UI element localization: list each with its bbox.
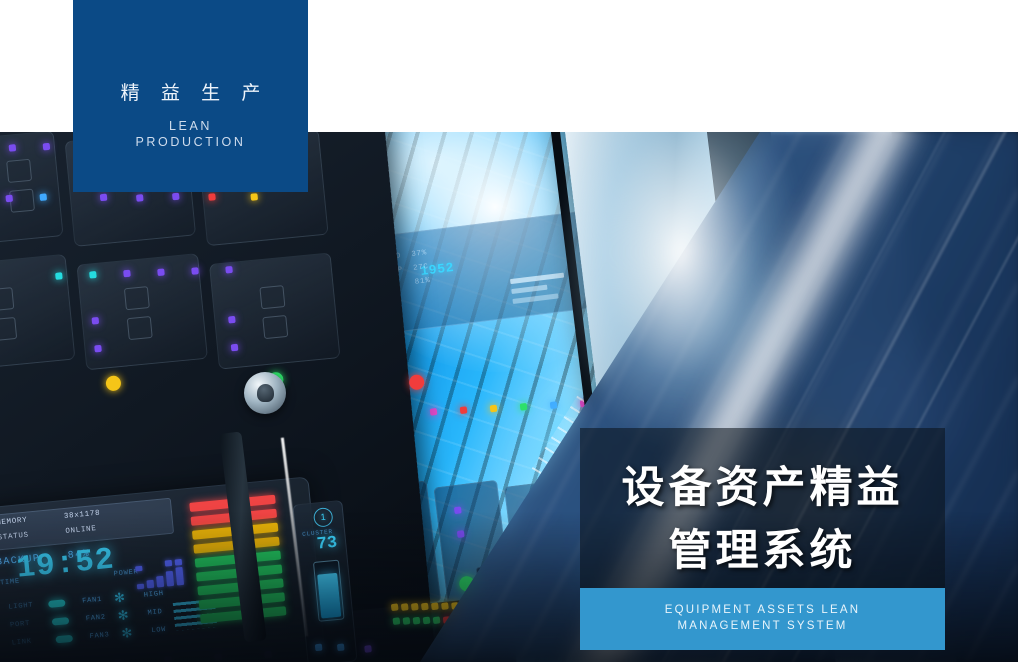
- main-title-english-line2: MANAGEMENT SYSTEM: [580, 618, 945, 634]
- lean-badge-english: LEAN PRODUCTION: [73, 118, 308, 150]
- lean-badge-english-line1: LEAN: [73, 118, 308, 134]
- main-title-band: EQUIPMENT ASSETS LEAN MANAGEMENT SYSTEM: [580, 588, 945, 650]
- lean-badge-chinese: 精 益 生 产: [73, 78, 308, 105]
- poster-root: 1952 LOAD 37% TEMP 27C BUS 81%: [0, 0, 1018, 662]
- main-title-line1: 设备资产精益: [580, 453, 945, 515]
- main-title-english-line1: EQUIPMENT ASSETS LEAN: [580, 602, 945, 618]
- lean-badge-english-line2: PRODUCTION: [73, 134, 308, 150]
- main-title-overlay: 设备资产精益 管理系统: [580, 428, 945, 588]
- lean-production-badge: 精 益 生 产 LEAN PRODUCTION: [73, 0, 308, 192]
- main-title-line2: 管理系统: [580, 516, 945, 578]
- door-lock-icon: [244, 372, 286, 414]
- main-title-block: 设备资产精益 管理系统 EQUIPMENT ASSETS LEAN MANAGE…: [580, 428, 945, 650]
